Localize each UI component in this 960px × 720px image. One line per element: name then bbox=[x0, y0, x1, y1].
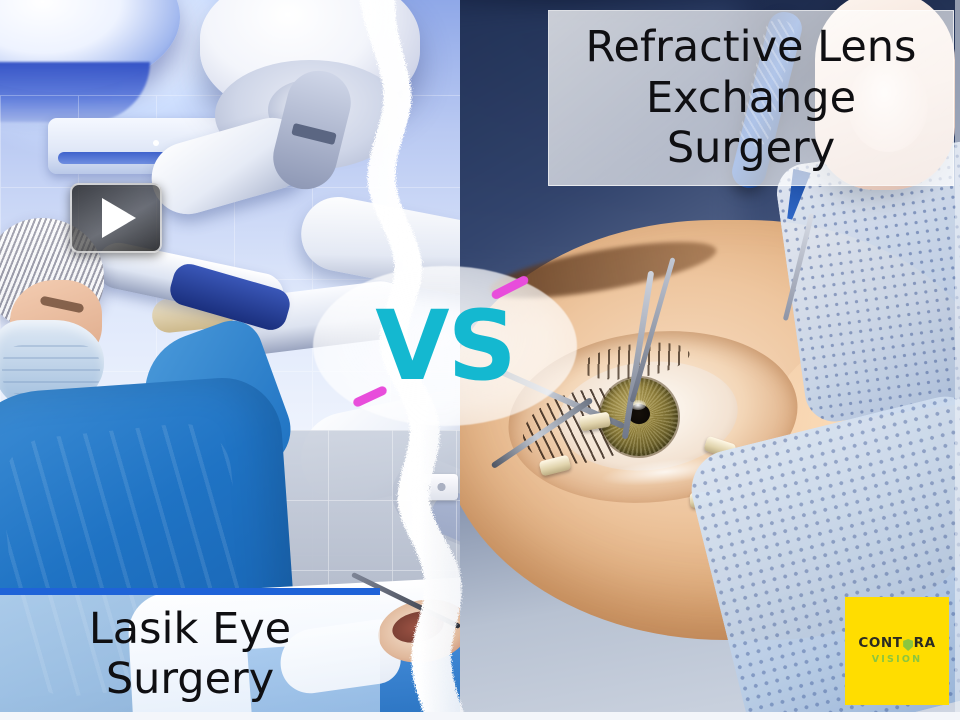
title-left-text: Lasik Eye Surgery bbox=[0, 595, 380, 705]
ac-led bbox=[153, 140, 159, 146]
versus-label: VS bbox=[313, 266, 577, 426]
title-right-line1: Refractive Lens bbox=[586, 22, 917, 73]
logo-subtitle: VISION bbox=[872, 654, 923, 665]
frame-edge-bottom bbox=[0, 712, 960, 720]
title-left-line1: Lasik Eye bbox=[0, 605, 380, 655]
title-right-line2: Exchange bbox=[586, 73, 917, 124]
title-right-text: Refractive Lens Exchange Surgery bbox=[586, 22, 917, 174]
title-right-line3: Surgery bbox=[586, 123, 917, 174]
logo-brand-head: CONT bbox=[858, 637, 902, 651]
logo-wordmark: CONT RA bbox=[858, 637, 935, 651]
title-panel-right: Refractive Lens Exchange Surgery bbox=[548, 10, 954, 186]
logo-brand-tail: RA bbox=[914, 637, 936, 651]
title-left-line2: Surgery bbox=[0, 655, 380, 705]
wall-outlet-icon bbox=[410, 474, 458, 500]
frame-edge-right bbox=[955, 0, 960, 720]
play-triangle-icon bbox=[102, 198, 136, 238]
contoura-vision-logo[interactable]: CONT RA VISION bbox=[845, 597, 949, 705]
title-panel-left: Lasik Eye Surgery bbox=[0, 588, 380, 720]
play-button[interactable] bbox=[70, 183, 162, 253]
slide-canvas: VS Refractive Lens Exchange Surgery Lasi… bbox=[0, 0, 960, 720]
shield-icon bbox=[903, 639, 913, 651]
